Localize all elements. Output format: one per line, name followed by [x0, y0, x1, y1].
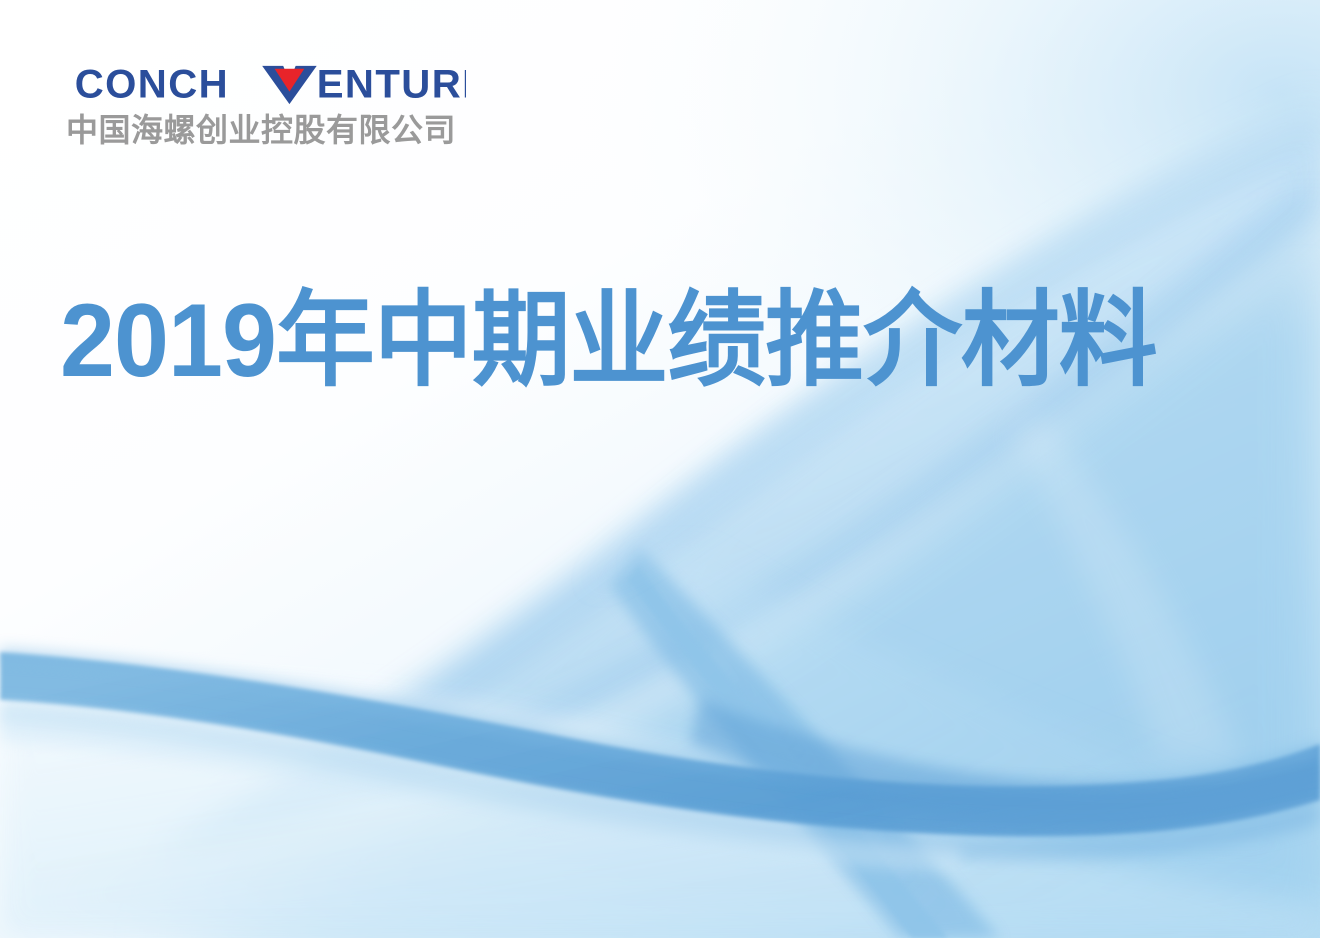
- venture-v-logomark-icon: [262, 66, 317, 104]
- wordmark-conch-text: CONCH: [75, 62, 229, 106]
- company-logo: CONCH ENTURE 中国海螺创业控股有限公司: [66, 62, 476, 148]
- company-name-chinese: 中国海螺创业控股有限公司: [66, 113, 476, 148]
- conch-venture-wordmark-icon: CONCH ENTURE: [66, 62, 466, 106]
- wordmark-enture-text: ENTURE: [317, 62, 466, 106]
- title-slide: CONCH ENTURE 中国海螺创业控股有限公司 2019年中期业绩推介材料: [0, 0, 1320, 938]
- slide-title: 2019年中期业绩推介材料: [60, 286, 1157, 396]
